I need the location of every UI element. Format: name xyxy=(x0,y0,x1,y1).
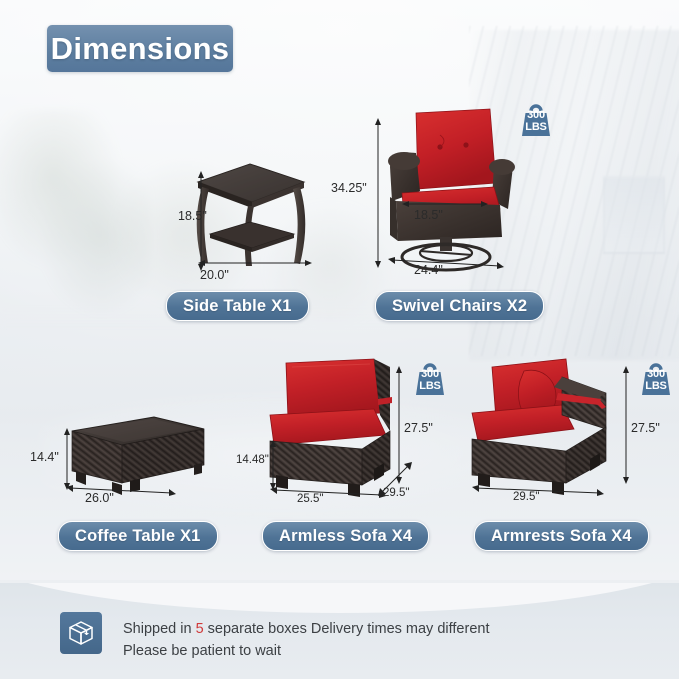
armrests-sofa-svg xyxy=(466,357,631,502)
coffee-table-width-line xyxy=(66,484,176,496)
box-icon-glyph xyxy=(68,620,94,646)
weight-badge-value: 300 xyxy=(636,369,676,380)
label-side-table[interactable]: Side Table X1 xyxy=(166,291,309,321)
shipping-note-box-count: 5 xyxy=(196,621,204,637)
label-coffee-table[interactable]: Coffee Table X1 xyxy=(58,521,218,551)
swivel-chair-width-line xyxy=(388,256,504,270)
label-coffee-table-text: Coffee Table X1 xyxy=(75,527,201,546)
shipping-note-line1-post: separate boxes Delivery times may differ… xyxy=(204,621,490,637)
shipping-box-icon xyxy=(60,612,102,654)
coffee-table-height-label: 14.4" xyxy=(30,450,59,464)
shipping-note-line2: Please be patient to wait xyxy=(123,640,603,662)
label-armless-sofa[interactable]: Armless Sofa X4 xyxy=(262,521,429,551)
house-window xyxy=(603,176,665,254)
armless-sofa-back-height-label: 27.5" xyxy=(404,421,433,435)
weight-badge-swivel-chairs: 300 LBS xyxy=(516,100,556,140)
weight-badge-value: 300 xyxy=(516,110,556,121)
armrests-sofa-height-line xyxy=(621,366,631,484)
side-table-width-label: 20.0" xyxy=(200,268,229,282)
side-table-width-line xyxy=(198,258,312,268)
shipping-note-line1: Shipped in 5 separate boxes Delivery tim… xyxy=(123,618,603,640)
label-swivel-chairs-text: Swivel Chairs X2 xyxy=(392,297,527,316)
weight-badge-armless-sofa: 300 LBS xyxy=(410,359,450,399)
side-table-height-line xyxy=(196,171,206,271)
label-armless-sofa-text: Armless Sofa X4 xyxy=(279,527,412,546)
armrests-sofa-illustration xyxy=(466,357,631,502)
armless-sofa-depth-line xyxy=(378,462,412,496)
footer-curve xyxy=(0,583,679,613)
swivel-chair-seat-depth-label: 18.5" xyxy=(414,208,443,222)
swivel-chair-seat-depth-line xyxy=(402,199,488,209)
page-title-text: Dimensions xyxy=(51,31,230,67)
label-side-table-text: Side Table X1 xyxy=(183,297,292,316)
armrests-sofa-height-label: 27.5" xyxy=(631,421,660,435)
page-title: Dimensions xyxy=(47,25,233,72)
armrests-sofa-width-line xyxy=(472,484,604,496)
swivel-chair-height-line xyxy=(373,118,383,268)
weight-badge-armrests-sofa: 300 LBS xyxy=(636,359,676,399)
label-swivel-chairs[interactable]: Swivel Chairs X2 xyxy=(375,291,544,321)
label-armrests-sofa-text: Armrests Sofa X4 xyxy=(491,527,632,546)
weight-badge-unit: LBS xyxy=(516,122,556,133)
swivel-chair-svg xyxy=(368,105,528,275)
label-armrests-sofa[interactable]: Armrests Sofa X4 xyxy=(474,521,649,551)
weight-badge-unit: LBS xyxy=(410,381,450,392)
shipping-note-line1-pre: Shipped in xyxy=(123,621,196,637)
swivel-chair-illustration xyxy=(368,105,528,275)
armless-sofa-seat-height-line xyxy=(268,440,278,490)
background-scene xyxy=(0,0,679,679)
weight-badge-value: 300 xyxy=(410,369,450,380)
infographic-canvas: Dimensions xyxy=(0,0,679,679)
swivel-chair-height-label: 34.25" xyxy=(331,181,367,195)
armless-sofa-seat-height-label: 14.48" xyxy=(236,454,269,466)
armless-sofa-width-line xyxy=(270,486,386,498)
shipping-note: Shipped in 5 separate boxes Delivery tim… xyxy=(123,618,603,662)
coffee-table-height-line xyxy=(62,428,72,490)
weight-badge-unit: LBS xyxy=(636,381,676,392)
